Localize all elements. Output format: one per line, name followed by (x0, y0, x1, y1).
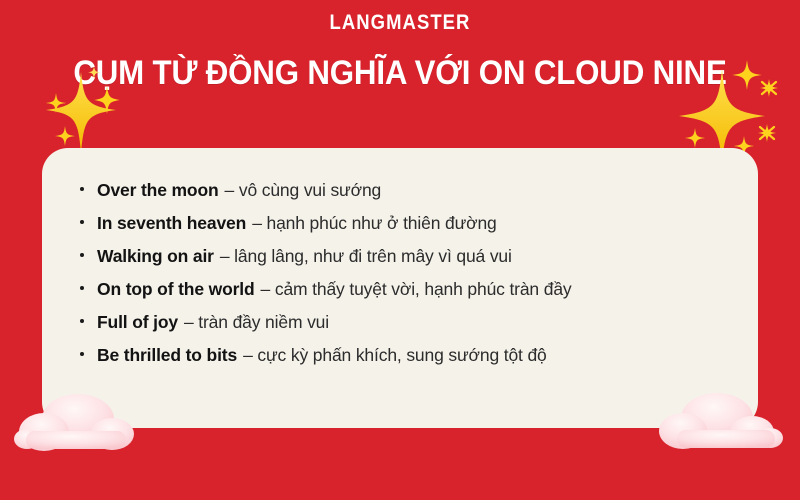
list-item: Over the moon – vô cùng vui sướng (80, 180, 738, 213)
bullet-icon (80, 344, 97, 362)
idiom-dash: – (261, 279, 271, 299)
idiom-gloss: – vô cùng vui sướng (225, 180, 382, 201)
idiom-gloss: – hạnh phúc như ở thiên đường (252, 213, 496, 234)
idiom-dash: – (252, 213, 262, 233)
idiom-dash: – (243, 345, 253, 365)
idiom-meaning: vô cùng vui sướng (239, 180, 381, 200)
idiom-meaning: cực kỳ phấn khích, sung sướng tột độ (257, 345, 546, 365)
bullet-icon (80, 311, 97, 329)
idiom-term: On top of the world (97, 279, 255, 300)
content-card: Over the moon – vô cùng vui sướng In sev… (42, 148, 758, 428)
bullet-icon (80, 278, 97, 296)
idiom-dash: – (220, 246, 230, 266)
list-item: Walking on air – lâng lâng, như đi trên … (80, 246, 738, 279)
bullet-icon (80, 212, 97, 230)
idiom-dash: – (184, 312, 194, 332)
page-title: CỤM TỪ ĐỒNG NGHĨA VỚI ON CLOUD NINE (32, 54, 768, 92)
idiom-gloss: – cảm thấy tuyệt vời, hạnh phúc tràn đầy (261, 279, 572, 300)
idiom-gloss: – lâng lâng, như đi trên mây vì quá vui (220, 246, 512, 267)
idiom-term: In seventh heaven (97, 213, 246, 234)
idiom-meaning: lâng lâng, như đi trên mây vì quá vui (234, 246, 512, 266)
brand-wordmark: LANGMASTER (48, 12, 752, 33)
list-item: Be thrilled to bits – cực kỳ phấn khích,… (80, 345, 738, 378)
idiom-term: Walking on air (97, 246, 214, 267)
idiom-meaning: tràn đầy niềm vui (198, 312, 329, 332)
bullet-icon (80, 245, 97, 263)
idiom-gloss: – tràn đầy niềm vui (184, 312, 329, 333)
list-item: In seventh heaven – hạnh phúc như ở thiê… (80, 213, 738, 246)
idiom-list: Over the moon – vô cùng vui sướng In sev… (80, 180, 738, 378)
idiom-gloss: – cực kỳ phấn khích, sung sướng tột độ (243, 345, 547, 366)
poster-canvas: LANGMASTER CỤM TỪ ĐỒNG NGHĨA VỚI ON CLOU… (0, 0, 800, 500)
idiom-term: Full of joy (97, 312, 178, 333)
list-item: Full of joy – tràn đầy niềm vui (80, 312, 738, 345)
bullet-icon (80, 179, 97, 197)
idiom-meaning: cảm thấy tuyệt vời, hạnh phúc tràn đầy (275, 279, 572, 299)
idiom-meaning: hạnh phúc như ở thiên đường (267, 213, 497, 233)
idiom-term: Over the moon (97, 180, 219, 201)
list-item: On top of the world – cảm thấy tuyệt vời… (80, 279, 738, 312)
idiom-dash: – (225, 180, 235, 200)
idiom-term: Be thrilled to bits (97, 345, 237, 366)
